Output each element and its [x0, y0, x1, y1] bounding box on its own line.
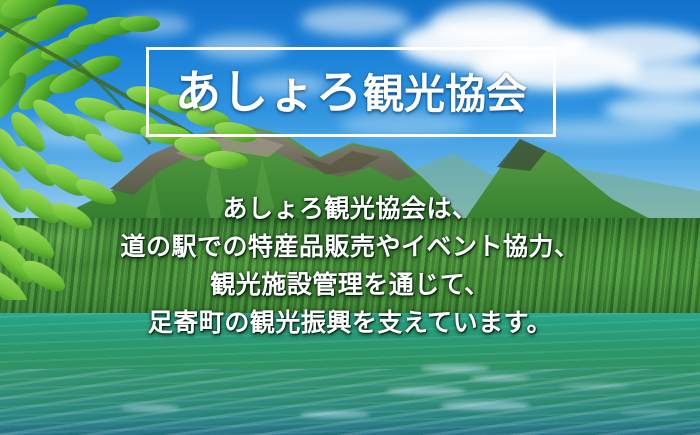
water-ripple — [560, 383, 630, 389]
description-line: 足寄町の観光振興を支えています。 — [0, 304, 700, 342]
water-ripple — [440, 401, 530, 410]
cloud-icon — [430, 2, 550, 46]
description-line: 道の駅での特産品販売やイベント協力、 — [0, 228, 700, 266]
tourism-association-banner: あしょろ観光協会 あしょろ観光協会は、 道の駅での特産品販売やイベント協力、 観… — [0, 0, 700, 435]
water-ripple — [420, 365, 490, 372]
title-frame: あしょろ観光協会 — [146, 47, 556, 137]
description-line: あしょろ観光協会は、 — [0, 190, 700, 228]
cloud-icon — [300, 6, 410, 36]
title-kanji: 観光協会 — [363, 70, 527, 118]
description-line: 観光施設管理を通じて、 — [0, 266, 700, 304]
water-ripple — [120, 405, 180, 411]
description-block: あしょろ観光協会は、 道の駅での特産品販売やイベント協力、 観光施設管理を通じて… — [0, 190, 700, 342]
page-title: あしょろ観光協会 — [175, 69, 527, 116]
water-ripple — [300, 411, 370, 418]
water-ripple — [386, 387, 466, 395]
water-ripple — [470, 375, 530, 381]
cloud-icon — [560, 26, 700, 66]
title-kana: あしょろ — [175, 65, 363, 119]
water-ripple — [620, 409, 680, 415]
